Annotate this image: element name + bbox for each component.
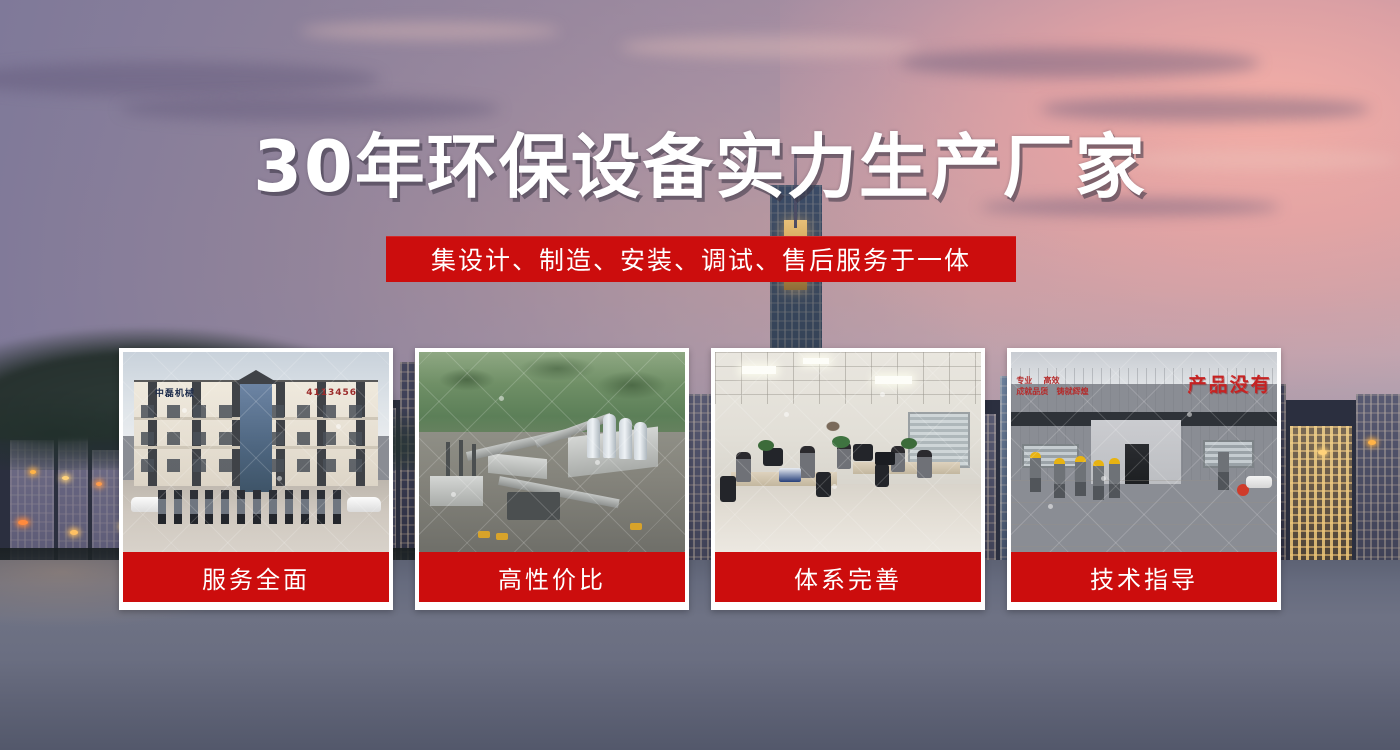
slogan-3: 成就品质 [1016,387,1048,396]
page-title: 30年环保设备实力生产厂家 [0,128,1400,206]
instructor [1218,452,1229,490]
subtitle-banner: 集设计、制造、安装、调试、售后服务于一体 [386,236,1016,282]
slogan-4: 铸就辉煌 [1057,387,1089,396]
slogan-1: 专业 [1016,376,1032,385]
monitor [875,452,895,465]
car [1246,476,1272,488]
card-caption: 技术指导 [1011,552,1277,602]
laptop [779,468,801,482]
feature-card[interactable]: 体系完善 [711,348,985,610]
card-caption: 体系完善 [715,552,981,602]
worker [1075,456,1086,496]
card-photo-factory-workers: 产品没有 专业 高效 成就品质 铸就辉煌 [1011,352,1277,552]
building-sign-phone: 4113456 [306,388,357,398]
slogan-2: 高效 [1043,376,1059,385]
worker [1093,460,1104,500]
wall-decal [813,412,853,438]
card-caption: 高性价比 [419,552,685,602]
feature-card[interactable]: 中磊机械 4113456 [119,348,393,610]
card-caption: 服务全面 [123,552,389,602]
feature-card-row: 中磊机械 4113456 [119,348,1281,610]
factory-wall-slogans: 专业 高效 成就品质 铸就辉煌 [1016,376,1088,398]
building-sign: 中磊机械 4113456 [155,386,357,399]
card-photo-industrial-plant [419,352,685,552]
card-photo-office-interior [715,352,981,552]
promo-banner-stage: 30年环保设备实力生产厂家 集设计、制造、安装、调试、售后服务于一体 [0,0,1400,750]
plant [758,440,774,451]
worker [1109,458,1120,498]
feature-card[interactable]: 产品没有 专业 高效 成就品质 铸就辉煌 [1007,348,1281,610]
subtitle-text: 集设计、制造、安装、调试、售后服务于一体 [431,241,971,277]
card-photo-company-building: 中磊机械 4113456 [123,352,389,552]
plant [832,436,850,448]
building-sign-name: 中磊机械 [155,386,195,399]
worker [1030,452,1041,492]
feature-card[interactable]: 高性价比 [415,348,689,610]
worker [1054,458,1065,498]
